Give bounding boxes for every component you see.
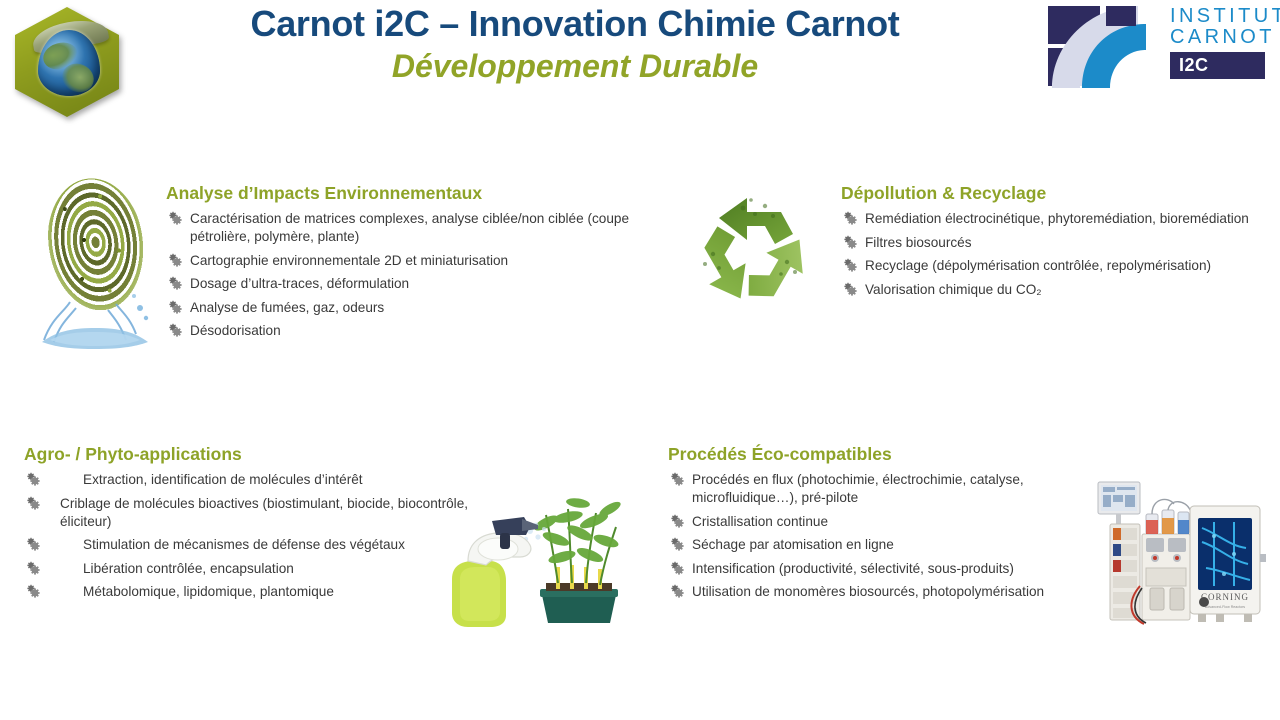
gears-icon (168, 211, 182, 225)
panel-analyse-impacts-environnementaux: Analyse d’Impacts Environnementaux Carac… (166, 183, 636, 346)
gears-icon (670, 561, 684, 575)
slide-header: Carnot i2C – Innovation Chimie Carnot Dé… (0, 0, 1280, 125)
gears-icon (843, 211, 857, 225)
gears-icon (670, 537, 684, 551)
bullet-list-agro: Extraction, identification de molécules … (24, 471, 494, 601)
list-item: Filtres biosourcés (841, 234, 1277, 252)
panel-title-depollution: Dépollution & Recyclage (841, 183, 1277, 204)
panel-title-impacts: Analyse d’Impacts Environnementaux (166, 183, 636, 204)
gears-icon (843, 282, 857, 296)
list-item: Désodorisation (166, 322, 636, 340)
list-item-text: Filtres biosourcés (865, 234, 1277, 252)
svg-text:Advanced-Flow Reactors: Advanced-Flow Reactors (1205, 605, 1245, 609)
list-item-text: Recyclage (dépolymérisation contrôlée, r… (865, 257, 1277, 275)
gears-icon (168, 300, 182, 314)
list-item: Cartographie environnementale 2D et mini… (166, 252, 636, 270)
list-item: Utilisation de monomères biosourcés, pho… (668, 583, 1088, 601)
list-item: Métabolomique, lipidomique, plantomique (24, 583, 494, 601)
gears-icon (670, 472, 684, 486)
green-fingerprint-water-splash-image (36, 178, 154, 350)
gears-icon (168, 276, 182, 290)
list-item-text: Criblage de molécules bioactives (biosti… (60, 495, 494, 531)
list-item-text: Stimulation de mécanismes de défense des… (83, 536, 494, 554)
list-item: Remédiation électrocinétique, phytoreméd… (841, 210, 1277, 228)
water-splash-icon (36, 288, 154, 350)
carnot-hexagon-earth-drop-logo (8, 4, 126, 120)
gears-icon (26, 537, 40, 551)
institut-carnot-i2c-logo: INSTITUT CARNOT I2C (1046, 4, 1274, 90)
recycling-symbol-icon (685, 184, 821, 324)
institut-carnot-wordmark: INSTITUT CARNOT I2C (1170, 6, 1274, 79)
list-item-text: Libération contrôlée, encapsulation (83, 560, 494, 578)
gears-icon (26, 584, 40, 598)
list-item: Recyclage (dépolymérisation contrôlée, r… (841, 257, 1277, 275)
list-item-text: Analyse de fumées, gaz, odeurs (190, 299, 636, 317)
list-item-text: Caractérisation de matrices complexes, a… (190, 210, 636, 246)
list-item-text: Utilisation de monomères biosourcés, pho… (692, 583, 1088, 601)
list-item-text: Intensification (productivité, sélectivi… (692, 560, 1088, 578)
panel-title-procedes: Procédés Éco-compatibles (668, 444, 1088, 465)
gears-icon (26, 472, 40, 486)
gears-icon (26, 496, 40, 510)
corning-flow-reactor-image: CORNING Advanced-Flow Reactors (1094, 476, 1266, 636)
gears-icon (168, 323, 182, 337)
list-item-text: Extraction, identification de molécules … (83, 471, 494, 489)
bullet-list-depollution: Remédiation électrocinétique, phytoreméd… (841, 210, 1277, 299)
gears-icon (26, 561, 40, 575)
page-subtitle: Développement Durable (120, 48, 1030, 85)
gears-icon (670, 584, 684, 598)
list-item-text: Remédiation électrocinétique, phytoreméd… (865, 210, 1277, 228)
panel-procedes-eco-compatibles: Procédés Éco-compatibles Procédés en flu… (668, 444, 1088, 607)
logo-line-institut: INSTITUT (1170, 6, 1274, 27)
list-item-text: Cartographie environnementale 2D et mini… (190, 252, 636, 270)
gears-icon (843, 235, 857, 249)
slide-root: Carnot i2C – Innovation Chimie Carnot Dé… (0, 0, 1280, 720)
list-item-text: Cristallisation continue (692, 513, 1088, 531)
logo-line-carnot: CARNOT (1170, 27, 1274, 48)
title-block: Carnot i2C – Innovation Chimie Carnot Dé… (120, 4, 1030, 85)
list-item-text: Valorisation chimique du CO₂ (865, 281, 1277, 299)
list-item: Libération contrôlée, encapsulation (24, 560, 494, 578)
list-item-text: Métabolomique, lipidomique, plantomique (83, 583, 494, 601)
list-item: Intensification (productivité, sélectivi… (668, 560, 1088, 578)
list-item: Dosage d’ultra-traces, déformulation (166, 275, 636, 293)
logo-badge-i2c: I2C (1170, 52, 1265, 79)
green-recycling-arrows-image (685, 184, 821, 324)
list-item-text: Séchage par atomisation en ligne (692, 536, 1088, 554)
list-item: Analyse de fumées, gaz, odeurs (166, 299, 636, 317)
list-item: Cristallisation continue (668, 513, 1088, 531)
gears-icon (843, 258, 857, 272)
list-item-text: Dosage d’ultra-traces, déformulation (190, 275, 636, 293)
list-item: Caractérisation de matrices complexes, a… (166, 210, 636, 246)
list-item: Procédés en flux (photochimie, électroch… (668, 471, 1088, 507)
list-item-text: Procédés en flux (photochimie, électroch… (692, 471, 1088, 507)
list-item: Criblage de molécules bioactives (biosti… (24, 495, 494, 531)
panel-depollution-recyclage: Dépollution & Recyclage Remédiation élec… (841, 183, 1277, 304)
list-item-text: Désodorisation (190, 322, 636, 340)
page-title: Carnot i2C – Innovation Chimie Carnot (120, 4, 1030, 44)
panel-agro-phyto-applications: Agro- / Phyto-applications Extraction, i… (24, 444, 494, 607)
institut-carnot-mark-icon (1046, 4, 1164, 88)
list-item: Valorisation chimique du CO₂ (841, 281, 1277, 299)
bullet-list-procedes: Procédés en flux (photochimie, électroch… (668, 471, 1088, 601)
list-item: Séchage par atomisation en ligne (668, 536, 1088, 554)
list-item: Stimulation de mécanismes de défense des… (24, 536, 494, 554)
gears-icon (670, 514, 684, 528)
flow-chemistry-reactor-icon: CORNING Advanced-Flow Reactors (1094, 476, 1266, 636)
panel-title-agro: Agro- / Phyto-applications (24, 444, 494, 465)
gears-icon (168, 253, 182, 267)
bullet-list-impacts: Caractérisation de matrices complexes, a… (166, 210, 636, 340)
list-item: Extraction, identification de molécules … (24, 471, 494, 489)
